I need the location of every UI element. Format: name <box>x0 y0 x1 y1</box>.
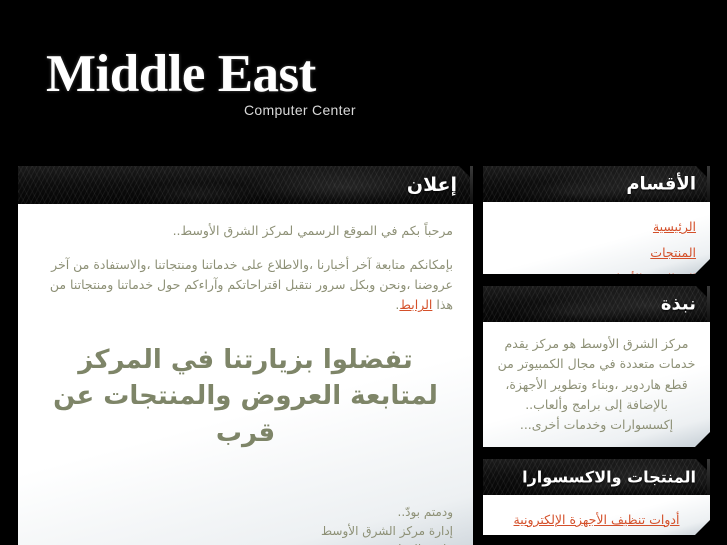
product-link-cleaning-tools[interactable]: أدوات تنظيف الأجهزة الإلكترونية <box>514 512 680 527</box>
sidebar-item-home[interactable]: الرئيسية <box>653 219 696 234</box>
intro-text: مرحباً بكم في الموقع الرسمي لمركز الشرق … <box>38 222 453 241</box>
sidebar-section-about: نبذة مركز الشرق الأوسط هو مركز يقدم خدما… <box>483 286 710 447</box>
page-root: Middle East Computer Center إعلان مرحباً… <box>0 0 727 545</box>
sidebar-about-title: نبذة <box>661 294 696 315</box>
sidebar-nav-list: الرئيسية المنتجات المقالات والأخبار الصي… <box>497 214 696 274</box>
sidebar-products-list: أدوات تنظيف الأجهزة الإلكترونية قواعد تب… <box>497 507 696 535</box>
sidebar-about-header: نبذة <box>483 286 710 322</box>
sidebar-item-articles-news[interactable]: المقالات والأخبار <box>611 271 697 274</box>
more-info-link[interactable]: الرابط <box>399 297 432 312</box>
sidebar-item-products[interactable]: المنتجات <box>650 245 696 260</box>
sidebar-section-products: المنتجات والاكسسوارا أدوات تنظيف الأجهزة… <box>483 459 710 535</box>
main-content-column: إعلان مرحباً بكم في الموقع الرسمي لمركز … <box>18 166 473 545</box>
main-content-panel: مرحباً بكم في الموقع الرسمي لمركز الشرق … <box>18 204 473 545</box>
list-item: أدوات تنظيف الأجهزة الإلكترونية <box>497 507 696 531</box>
signature-line-1: ودمتم بودّ.. <box>321 503 453 522</box>
signature-line-2: إدارة مركز الشرق الأوسط <box>321 522 453 541</box>
sidebar-about-text: مركز الشرق الأوسط هو مركز يقدم خدمات متع… <box>497 334 696 435</box>
sidebar-nav-header: الأقسام <box>483 166 710 202</box>
list-item: المنتجات <box>497 240 696 264</box>
sidebar-nav-header-edge <box>707 166 710 202</box>
sidebar-about-panel: مركز الشرق الأوسط هو مركز يقدم خدمات متع… <box>483 322 710 447</box>
signature-line-3: هاشم الرفاعي <box>321 540 453 545</box>
sidebar-nav-title: الأقسام <box>626 174 696 195</box>
main-paragraph: بإمكانكم متابعة آخر أخبارنا ،والاطلاع عل… <box>38 255 453 316</box>
brand-subtitle: Computer Center <box>244 102 356 118</box>
site-header: Middle East Computer Center <box>0 0 727 160</box>
sidebar-products-title: المنتجات والاكسسوارا <box>522 468 696 487</box>
sidebar-products-panel: أدوات تنظيف الأجهزة الإلكترونية قواعد تب… <box>483 495 710 535</box>
sidebar-products-header-edge <box>707 459 710 495</box>
sidebar: الأقسام الرئيسية المنتجات المقالات والأخ… <box>483 166 710 545</box>
list-item: المقالات والأخبار <box>497 266 696 274</box>
sidebar-about-header-edge <box>707 286 710 322</box>
main-section-header-edge <box>470 166 473 204</box>
main-paragraph-text: بإمكانكم متابعة آخر أخبارنا ،والاطلاع عل… <box>50 257 453 313</box>
list-item: قواعد تبريد اللابتوب Cool Pad <box>497 531 696 535</box>
promotional-heading: تفضلوا بزيارتنا في المركز لمتابعة العروض… <box>38 342 453 453</box>
signature-block: ودمتم بودّ.. إدارة مركز الشرق الأوسط هاش… <box>321 503 453 545</box>
main-section-header: إعلان <box>18 166 473 204</box>
sidebar-nav-panel: الرئيسية المنتجات المقالات والأخبار الصي… <box>483 202 710 274</box>
list-item: الرئيسية <box>497 214 696 238</box>
brand-title: Middle East <box>46 48 316 101</box>
main-section-title: إعلان <box>407 174 457 196</box>
sidebar-products-header: المنتجات والاكسسوارا <box>483 459 710 495</box>
sidebar-section-nav: الأقسام الرئيسية المنتجات المقالات والأخ… <box>483 166 710 274</box>
